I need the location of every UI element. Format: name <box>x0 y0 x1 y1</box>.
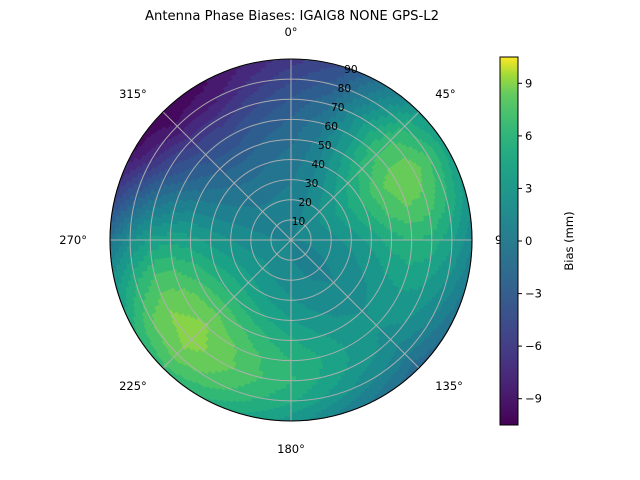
colorbar-tick-label: −9 <box>525 392 542 406</box>
colorbar-tick-label: −3 <box>525 287 542 301</box>
radial-tick-20: 20 <box>298 197 312 209</box>
colorbar-tick-label: 9 <box>525 76 532 90</box>
colorbar-tick-label: −6 <box>525 339 542 353</box>
radial-tick-70: 70 <box>331 102 345 114</box>
radial-tick-40: 40 <box>311 159 325 171</box>
azimuth-tick-45: 45° <box>435 87 455 101</box>
colorbar-tick-label: 6 <box>525 129 532 143</box>
polar-axes: 0°45°90°135°180°225°270°315° 10203040506… <box>59 25 515 456</box>
colorbar-label: Bias (mm) <box>562 211 576 270</box>
azimuth-tick-0: 0° <box>284 25 297 39</box>
radial-tick-90: 90 <box>344 64 358 76</box>
colorbar-gradient <box>500 57 518 425</box>
figure-title: Antenna Phase Biases: IGAIG8 NONE GPS-L2 <box>145 9 439 24</box>
azimuth-tick-225: 225° <box>119 379 147 393</box>
radial-tick-10: 10 <box>292 216 306 228</box>
radial-tick-50: 50 <box>318 140 332 152</box>
radial-tick-30: 30 <box>305 178 319 190</box>
colorbar-tick-label: 0 <box>525 234 532 248</box>
colorbar-tick-label: 3 <box>525 181 532 195</box>
azimuth-tick-315: 315° <box>119 87 147 101</box>
azimuth-tick-180: 180° <box>277 442 305 456</box>
azimuth-tick-270: 270° <box>59 233 87 247</box>
polar-gridlines <box>110 59 472 421</box>
polar-skyplot-figure: Antenna Phase Biases: IGAIG8 NONE GPS-L2… <box>0 0 640 480</box>
radial-tick-80: 80 <box>338 83 352 95</box>
azimuth-tick-135: 135° <box>435 379 463 393</box>
radial-tick-60: 60 <box>325 121 339 133</box>
